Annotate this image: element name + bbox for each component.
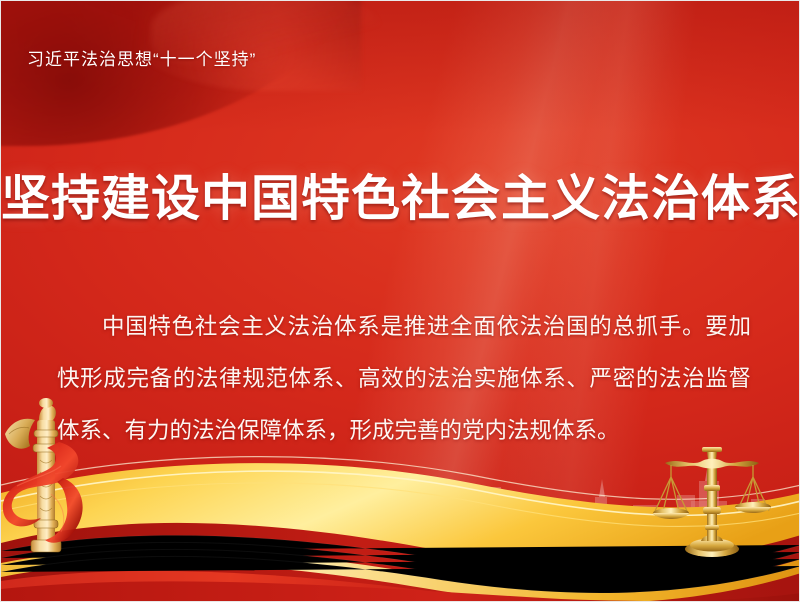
body-text-block: 中国特色社会主义法治体系是推进全面依法治国的总抓手。要加快形成完备的法律规范体系… [57, 301, 751, 457]
poster-canvas: 习近平法治思想“十一个坚持” 坚持建设中国特色社会主义法治体系 中国特色社会主义… [0, 0, 800, 602]
header-subtitle: 习近平法治思想“十一个坚持” [27, 45, 256, 70]
body-paragraph: 中国特色社会主义法治体系是推进全面依法治国的总抓手。要加快形成完备的法律规范体系… [57, 301, 751, 457]
page-title: 坚持建设中国特色社会主义法治体系 [1, 159, 800, 230]
